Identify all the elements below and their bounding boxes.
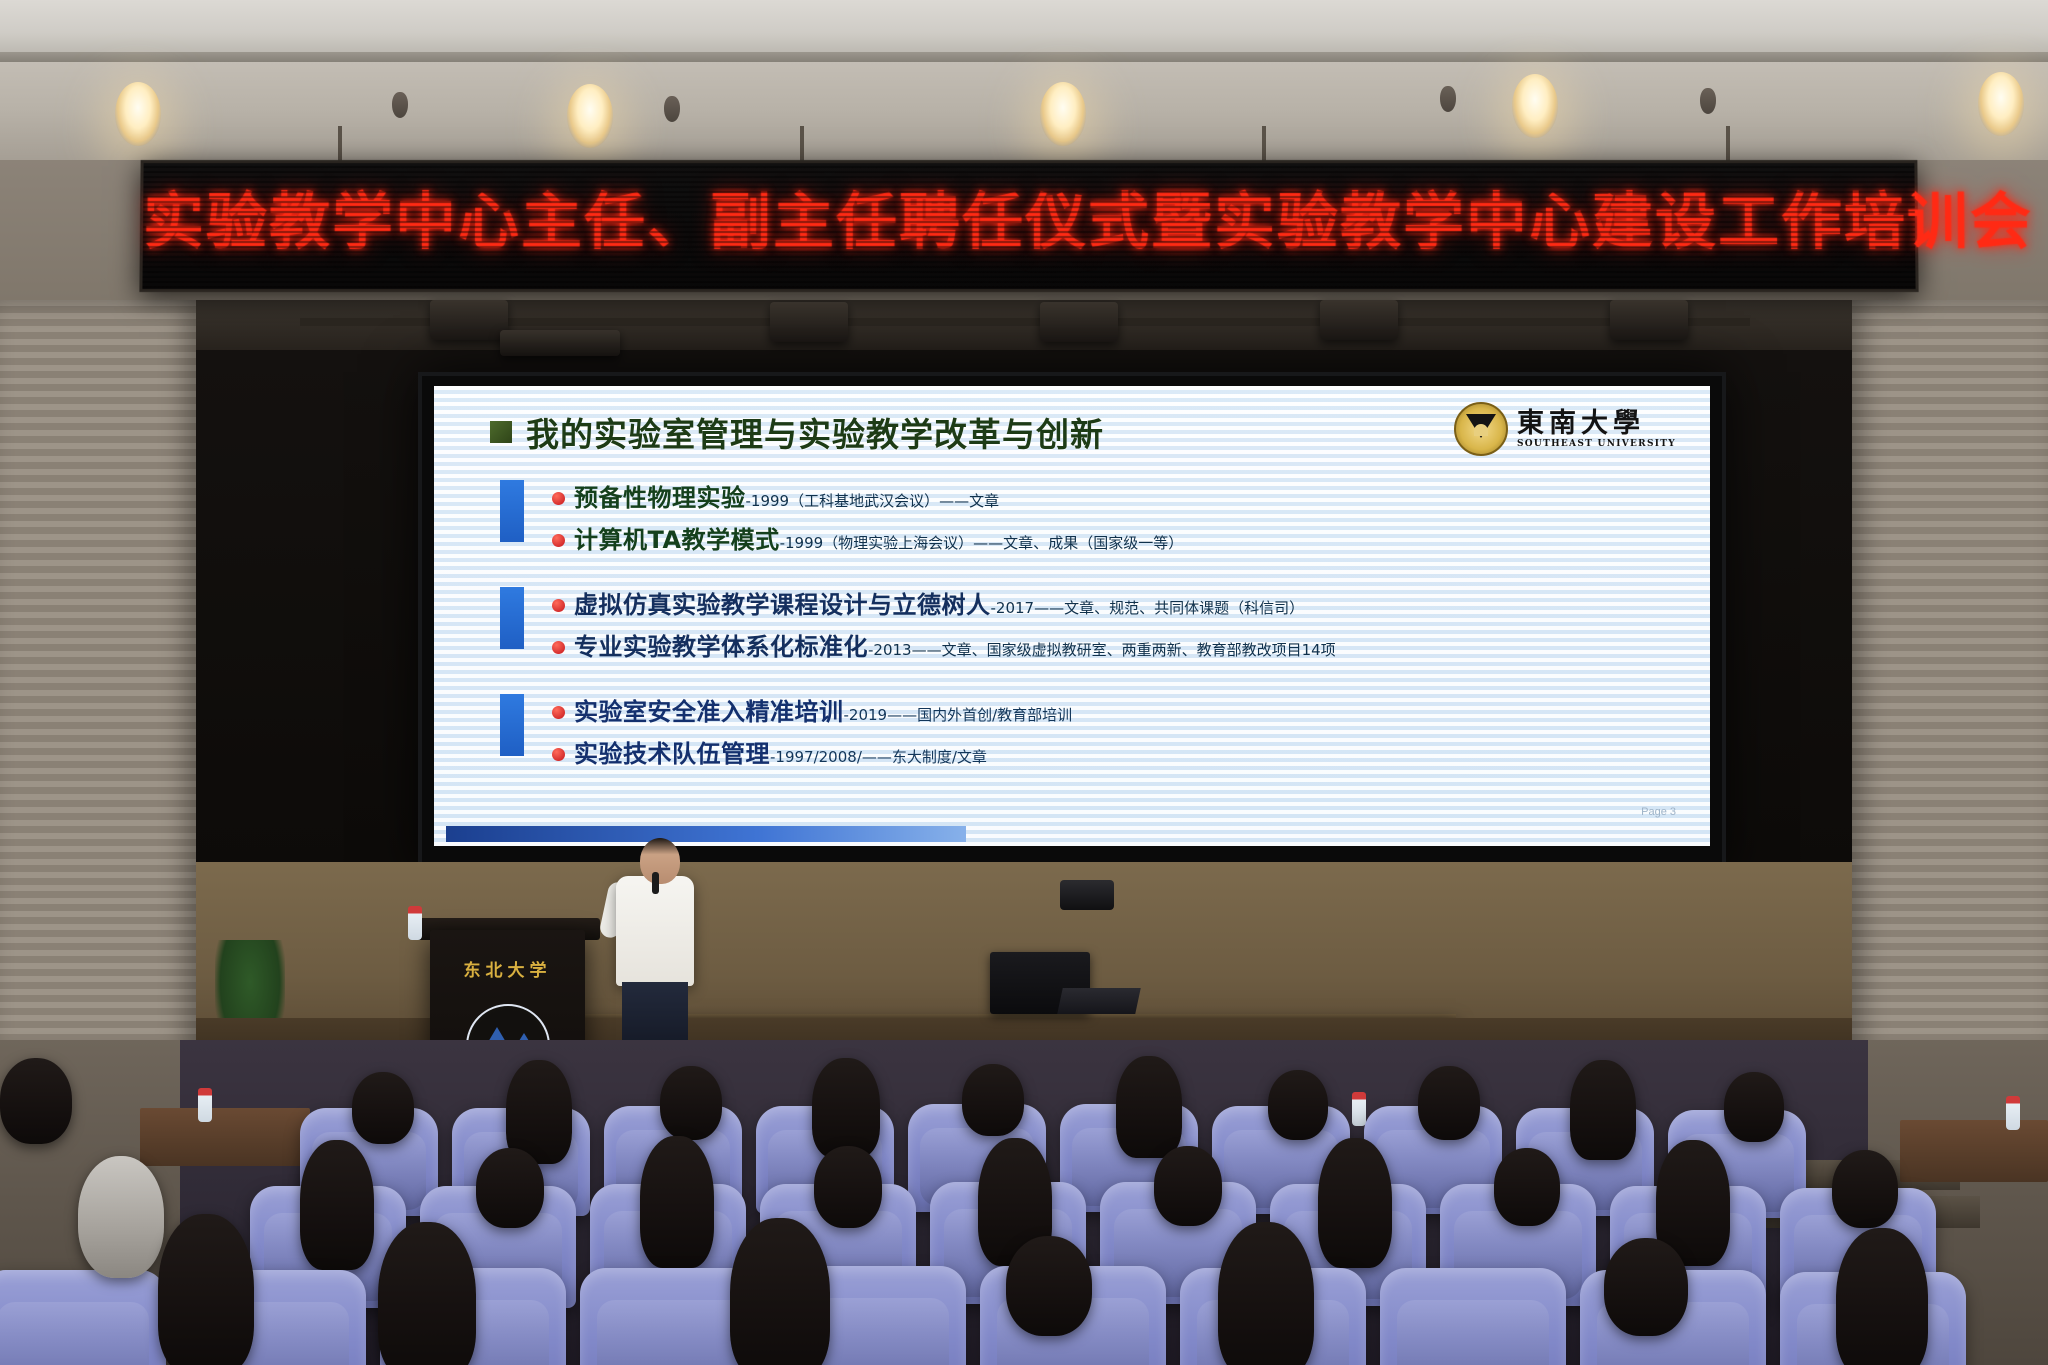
bullet-lead: 专业实验教学体系化标准化 — [574, 627, 868, 662]
bullet-tail: -2019——国内外首创/教育部培训 — [844, 704, 1073, 725]
bullet-tail: -1997/2008/——东大制度/文章 — [770, 746, 987, 767]
banner-hanger — [1726, 126, 1730, 162]
wall-panel-right — [1848, 300, 2048, 1060]
bullet-lead: 预备性物理实验 — [574, 478, 746, 513]
bullet-tail: -1999（物理实验上海会议）——文章、 — [780, 532, 1049, 553]
group-accent-bar — [500, 694, 524, 756]
ceiling — [0, 0, 2048, 60]
auditorium-seat — [0, 1270, 166, 1365]
led-banner: 实验教学中心主任、副主任聘任仪式暨实验教学中心建设工作培训会 — [139, 160, 1918, 292]
slide-bullet-groups: 预备性物理实验 -1999（工科基地武汉会议）——文章 计算机TA教学模式 -1… — [494, 478, 1670, 799]
red-dot-bullet-icon — [552, 599, 565, 612]
audience-head — [1116, 1056, 1182, 1158]
ceiling-monitor-small — [500, 330, 620, 356]
auditorium-scene: 实验教学中心主任、副主任聘任仪式暨实验教学中心建设工作培训会 我的实验室管理与实… — [0, 0, 2048, 1365]
crest-dome-icon — [1474, 424, 1488, 436]
slide-footer-bar — [446, 826, 966, 842]
audience-head — [730, 1218, 830, 1365]
red-dot-bullet-icon — [552, 641, 565, 654]
water-bottle — [2006, 1096, 2020, 1130]
ceiling-rail — [300, 318, 1750, 326]
audience-head — [476, 1148, 544, 1228]
group-accent-bar — [500, 480, 524, 542]
audience-head — [660, 1066, 722, 1140]
projection-screen: 我的实验室管理与实验教学改革与创新 東南大學 SOUTHEAST UNIVERS… — [418, 372, 1726, 872]
ceiling-downlight — [567, 84, 613, 148]
red-dot-bullet-icon — [552, 748, 565, 761]
red-dot-bullet-icon — [552, 492, 565, 505]
audience-head — [962, 1064, 1024, 1136]
bullet-lead: 虚拟仿真实验教学课程设计与立德树人 — [574, 585, 991, 620]
audience-head — [812, 1058, 880, 1158]
audience-head — [1836, 1228, 1928, 1365]
bullet-line: 计算机TA教学模式 -1999（物理实验上海会议）——文章、 成果（国家级一等） — [552, 520, 1670, 555]
audience-head — [1570, 1060, 1636, 1160]
slide-title: 我的实验室管理与实验教学改革与创新 — [490, 408, 1104, 456]
sprinkler-icon — [664, 96, 680, 122]
southeast-university-logo: 東南大學 SOUTHEAST UNIVERSITY — [1454, 402, 1676, 456]
audience-head — [1268, 1070, 1328, 1140]
ceiling-speaker — [1610, 300, 1688, 340]
bullet-tail-after: （科信司） — [1229, 597, 1304, 618]
handheld-microphone-icon — [652, 872, 659, 894]
bullet-lead: 实验技术队伍管理 — [574, 734, 770, 769]
bullet-tail-highlight: 国家级虚拟教研室、两重两新、教育部教改项目14项 — [987, 639, 1336, 660]
audience-head — [1218, 1222, 1314, 1365]
side-table — [140, 1108, 310, 1166]
audience-head — [0, 1058, 72, 1144]
water-bottle — [408, 906, 422, 940]
red-dot-bullet-icon — [552, 706, 565, 719]
ceiling-downlight — [115, 82, 161, 146]
ceiling-speaker — [770, 302, 848, 342]
slide-title-text: 我的实验室管理与实验教学改革与创新 — [526, 408, 1104, 456]
bullet-line: 实验室安全准入精准培训 -2019——国内外首创/教育部培训 — [552, 692, 1670, 727]
audience-head — [158, 1214, 254, 1365]
podium-name-text: 东北大学 — [430, 956, 585, 981]
bullet-group-1: 预备性物理实验 -1999（工科基地武汉会议）——文章 计算机TA教学模式 -1… — [494, 478, 1670, 555]
bullet-group-3: 实验室安全准入精准培训 -2019——国内外首创/教育部培训 实验技术队伍管理 … — [494, 692, 1670, 769]
water-bottle — [1352, 1092, 1366, 1126]
bullet-line: 虚拟仿真实验教学课程设计与立德树人 -2017——文章、规范、 共同体课题 （科… — [552, 585, 1670, 620]
ceiling-downlight — [1978, 72, 2024, 136]
bullet-lead: 实验室安全准入精准培训 — [574, 692, 844, 727]
audience-head — [1318, 1138, 1392, 1268]
sprinkler-icon — [1700, 88, 1716, 114]
bullet-tail: -1999（工科基地武汉会议）——文章 — [746, 490, 1000, 511]
bullet-tail-highlight: 共同体课题 — [1154, 597, 1229, 618]
audience-head — [1724, 1072, 1784, 1142]
audience-head — [378, 1222, 476, 1365]
banner-hanger — [800, 126, 804, 162]
presentation-slide: 我的实验室管理与实验教学改革与创新 東南大學 SOUTHEAST UNIVERS… — [434, 386, 1710, 846]
sprinkler-icon — [392, 92, 408, 118]
ceiling-downlight — [1040, 82, 1086, 146]
su-name-en: SOUTHEAST UNIVERSITY — [1517, 440, 1676, 449]
audience-head — [1832, 1150, 1898, 1228]
ceiling-speaker — [430, 300, 508, 340]
red-dot-bullet-icon — [552, 534, 565, 547]
audience-head — [1494, 1148, 1560, 1226]
wall-panel-left — [0, 300, 200, 1060]
title-bullet-square-icon — [490, 421, 512, 443]
bullet-tail: -2013——文章、 — [868, 639, 987, 660]
auditorium-seat — [1380, 1268, 1566, 1365]
audience-head — [814, 1146, 882, 1228]
audience-head — [300, 1140, 374, 1270]
southeast-university-crest-icon — [1454, 402, 1508, 456]
ceiling-speaker — [1040, 302, 1118, 342]
laptop — [1057, 988, 1141, 1014]
slide-page-number: Page 3 — [1641, 806, 1676, 818]
led-banner-text: 实验教学中心主任、副主任聘任仪式暨实验教学中心建设工作培训会 — [143, 179, 1916, 267]
upper-wall — [0, 62, 2048, 167]
stage-camera — [1060, 880, 1114, 910]
water-bottle — [198, 1088, 212, 1122]
su-name-cn: 東南大學 — [1517, 410, 1676, 437]
bullet-tail-highlight: 成果（国家级一等） — [1048, 532, 1183, 553]
group-accent-bar — [500, 587, 524, 649]
audience-head — [1418, 1066, 1480, 1140]
banner-hanger — [338, 126, 342, 162]
ceiling-speaker — [1320, 300, 1398, 340]
bullet-line: 预备性物理实验 -1999（工科基地武汉会议）——文章 — [552, 478, 1670, 513]
audience-head — [1006, 1236, 1092, 1336]
audience-head — [352, 1072, 414, 1144]
side-table-right — [1900, 1120, 2048, 1182]
southeast-university-name: 東南大學 SOUTHEAST UNIVERSITY — [1517, 410, 1676, 449]
audience-head — [640, 1136, 714, 1268]
bullet-line: 专业实验教学体系化标准化 -2013——文章、 国家级虚拟教研室、两重两新、教育… — [552, 627, 1670, 662]
presenter-legs — [622, 982, 688, 1042]
audience-head-gray — [78, 1156, 164, 1278]
bullet-tail: -2017——文章、规范、 — [991, 597, 1155, 618]
audience-head — [1604, 1238, 1688, 1336]
presenter-head — [640, 838, 680, 884]
audience-head — [1154, 1146, 1222, 1226]
bullet-lead: 计算机TA教学模式 — [574, 520, 780, 555]
bullet-group-2: 虚拟仿真实验教学课程设计与立德树人 -2017——文章、规范、 共同体课题 （科… — [494, 585, 1670, 662]
bullet-line: 实验技术队伍管理 -1997/2008/——东大制度/文章 — [552, 734, 1670, 769]
sprinkler-icon — [1440, 86, 1456, 112]
banner-hanger — [1262, 126, 1266, 162]
ceiling-downlight — [1512, 74, 1558, 138]
